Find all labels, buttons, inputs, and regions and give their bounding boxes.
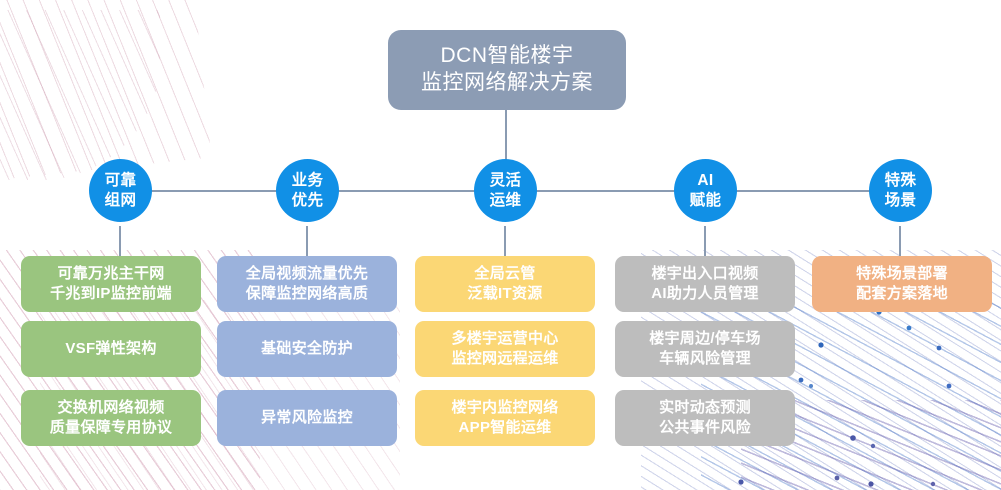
decorative-line-pattern-top-left: [0, 0, 211, 181]
connector-circle-3-to-column: [504, 226, 506, 256]
branch-node-4-line-2: 赋能: [690, 191, 722, 210]
branch-3-item-3-line-2: APP智能运维: [459, 418, 552, 438]
branch-5-item-1-line-1: 特殊场景部署: [856, 264, 948, 284]
branch-1-item-2[interactable]: VSF弹性架构: [21, 321, 201, 377]
page-title-line-1: DCN智能楼宇: [441, 43, 574, 70]
branch-2-item-3-line-1: 异常风险监控: [261, 408, 353, 428]
branch-node-3-line-2: 运维: [490, 191, 522, 210]
branch-1-item-1-line-1: 可靠万兆主干网: [57, 264, 164, 284]
branch-3-item-2-line-1: 多楼宇运营中心: [451, 329, 558, 349]
branch-3-item-1-line-1: 全局云管: [474, 264, 535, 284]
branch-3-item-3-line-1: 楼宇内监控网络: [451, 398, 558, 418]
branch-2-item-2[interactable]: 基础安全防护: [217, 321, 397, 377]
branch-3-item-1-line-2: 泛载IT资源: [467, 284, 542, 304]
branch-node-1-line-2: 组网: [105, 191, 137, 210]
diagram-canvas: DCN智能楼宇 监控网络解决方案 可靠 组网 可靠万兆主干网 千兆到IP监控前端…: [0, 0, 1001, 490]
connector-circle-4-to-column: [704, 226, 706, 256]
branch-1-item-2-line-1: VSF弹性架构: [65, 339, 156, 359]
branch-4-item-1-line-2: AI助力人员管理: [651, 284, 758, 304]
branch-5-item-1-line-2: 配套方案落地: [856, 284, 948, 304]
branch-3-item-3[interactable]: 楼宇内监控网络 APP智能运维: [415, 390, 595, 446]
branch-4-item-2-line-1: 楼宇周边/停车场: [649, 329, 761, 349]
branch-5-item-1[interactable]: 特殊场景部署 配套方案落地: [812, 256, 992, 312]
branch-node-5-line-1: 特殊: [885, 171, 917, 190]
page-title-line-2: 监控网络解决方案: [421, 70, 593, 97]
branch-4-item-2[interactable]: 楼宇周边/停车场 车辆风险管理: [615, 321, 795, 377]
branch-4-item-2-line-2: 车辆风险管理: [659, 349, 751, 369]
branch-1-item-1-line-2: 千兆到IP监控前端: [50, 284, 172, 304]
branch-4-item-1-line-1: 楼宇出入口视频: [651, 264, 758, 284]
branch-node-2-line-2: 优先: [292, 191, 324, 210]
branch-2-item-1-line-1: 全局视频流量优先: [246, 264, 368, 284]
branch-4-item-1[interactable]: 楼宇出入口视频 AI助力人员管理: [615, 256, 795, 312]
branch-3-item-2-line-2: 监控网远程运维: [451, 349, 558, 369]
branch-node-2[interactable]: 业务 优先: [276, 159, 339, 222]
connector-circle-2-to-column: [306, 226, 308, 256]
branch-node-3-line-1: 灵活: [490, 171, 522, 190]
branch-node-1[interactable]: 可靠 组网: [89, 159, 152, 222]
branch-1-item-3-line-2: 质量保障专用协议: [50, 418, 172, 438]
branch-4-item-3-line-2: 公共事件风险: [659, 418, 751, 438]
branch-1-item-3[interactable]: 交换机网络视频 质量保障专用协议: [21, 390, 201, 446]
branch-3-item-2[interactable]: 多楼宇运营中心 监控网远程运维: [415, 321, 595, 377]
branch-node-4-line-1: AI: [697, 171, 713, 190]
branch-2-item-1[interactable]: 全局视频流量优先 保障监控网络高质: [217, 256, 397, 312]
branch-2-item-2-line-1: 基础安全防护: [261, 339, 353, 359]
branch-node-4[interactable]: AI 赋能: [674, 159, 737, 222]
connector-circle-5-to-column: [899, 226, 901, 256]
branch-2-item-3[interactable]: 异常风险监控: [217, 390, 397, 446]
branch-node-1-line-1: 可靠: [105, 171, 137, 190]
branch-4-item-3-line-1: 实时动态预测: [659, 398, 751, 418]
branch-node-5-line-2: 场景: [885, 191, 917, 210]
branch-1-item-1[interactable]: 可靠万兆主干网 千兆到IP监控前端: [21, 256, 201, 312]
branch-node-2-line-1: 业务: [292, 171, 324, 190]
decorative-line-pattern-top-left-2: [0, 10, 160, 180]
branch-2-item-1-line-2: 保障监控网络高质: [246, 284, 368, 304]
branch-1-item-3-line-1: 交换机网络视频: [57, 398, 164, 418]
branch-3-item-1[interactable]: 全局云管 泛载IT资源: [415, 256, 595, 312]
branch-node-3[interactable]: 灵活 运维: [474, 159, 537, 222]
connector-circle-1-to-column: [119, 226, 121, 256]
branch-4-item-3[interactable]: 实时动态预测 公共事件风险: [615, 390, 795, 446]
branch-node-5[interactable]: 特殊 场景: [869, 159, 932, 222]
page-title: DCN智能楼宇 监控网络解决方案: [388, 30, 626, 110]
